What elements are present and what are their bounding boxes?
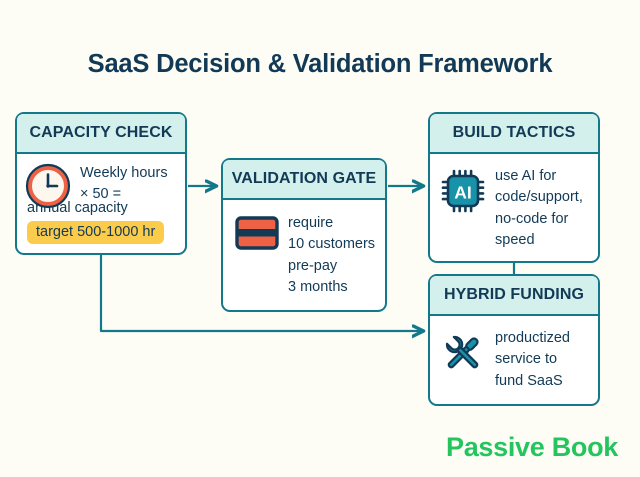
tools-icon bbox=[440, 330, 486, 376]
card-text-line: no-code for bbox=[495, 209, 583, 230]
card-body-hybrid-funding: productized service to fund SaaS bbox=[430, 316, 598, 404]
diagram-canvas: SaaS Decision & Validation Framework CAP… bbox=[0, 0, 640, 477]
card-text-line: Weekly hours bbox=[80, 163, 168, 184]
card-text-line: use AI for bbox=[495, 166, 583, 187]
card-text-line: code/support, bbox=[495, 187, 583, 208]
card-text-line: pre-pay bbox=[288, 256, 375, 277]
card-text-validation-gate: require 10 customers pre-pay 3 months bbox=[288, 213, 375, 298]
card-header-validation-gate: VALIDATION GATE bbox=[223, 160, 385, 200]
clock-icon bbox=[25, 163, 71, 209]
ai-chip-label: AI bbox=[454, 183, 472, 203]
card-text-line: 3 months bbox=[288, 277, 375, 298]
card-capacity-check[interactable]: CAPACITY CHECK Weekly hours × 50 = annua… bbox=[15, 112, 187, 255]
card-text-hybrid-funding: productized service to fund SaaS bbox=[495, 328, 570, 392]
card-body-validation-gate: require 10 customers pre-pay 3 months bbox=[223, 200, 385, 310]
ai-chip-icon: AI bbox=[440, 168, 486, 214]
credit-card-icon bbox=[235, 216, 279, 250]
card-header-hybrid-funding: HYBRID FUNDING bbox=[430, 276, 598, 316]
card-text-line: speed bbox=[495, 230, 583, 251]
card-text-line: service to bbox=[495, 349, 570, 370]
card-text-line: require bbox=[288, 213, 375, 234]
card-text-build-tactics: use AI for code/support, no-code for spe… bbox=[495, 166, 583, 251]
status-badge-target-hours: target 500-1000 hr bbox=[27, 221, 164, 244]
card-header-build-tactics: BUILD TACTICS bbox=[430, 114, 598, 154]
card-header-capacity-check: CAPACITY CHECK bbox=[17, 114, 185, 154]
card-validation-gate[interactable]: VALIDATION GATE require 10 customers pre… bbox=[221, 158, 387, 312]
card-text-line: 10 customers bbox=[288, 234, 375, 255]
card-text-line: × 50 = bbox=[80, 184, 168, 205]
card-text-line: productized bbox=[495, 328, 570, 349]
card-hybrid-funding[interactable]: HYBRID FUNDING pr bbox=[428, 274, 600, 406]
card-text-capacity-check: Weekly hours × 50 = bbox=[80, 163, 168, 206]
card-body-build-tactics: AI use AI for code/support, no-code for … bbox=[430, 154, 598, 261]
card-body-capacity-check: Weekly hours × 50 = bbox=[17, 154, 185, 215]
card-build-tactics[interactable]: BUILD TACTICS bbox=[428, 112, 600, 263]
card-text-line: fund SaaS bbox=[495, 371, 570, 392]
brand-logo: Passive Book bbox=[446, 432, 618, 463]
